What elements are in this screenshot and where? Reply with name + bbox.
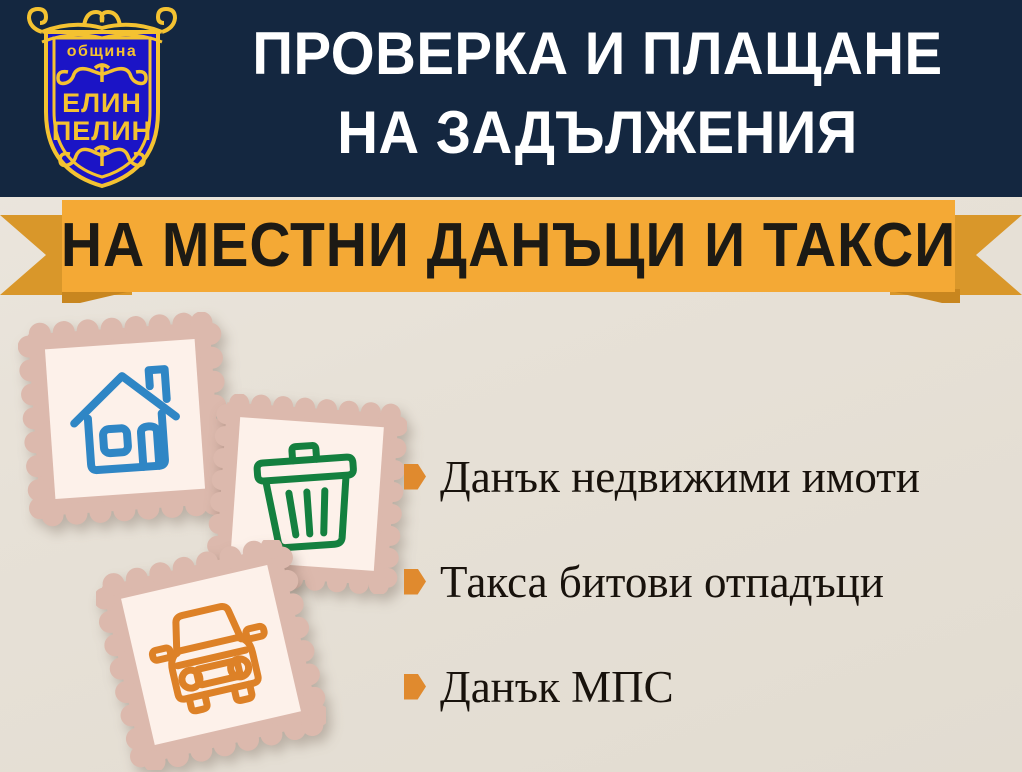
title-line-2: НА ЗАДЪЛЖЕНИЯ (214, 93, 980, 172)
list-item-label: Данък недвижими имоти (440, 453, 920, 501)
page-title: ПРОВЕРКА И ПЛАЩАНЕ НА ЗАДЪЛЖЕНИЯ (190, 14, 1005, 172)
poster-root: община ЕЛИН ПЕЛИН ПРОВЕРКА И ПЛАЩАНЕ НА … (0, 0, 1022, 772)
svg-text:ЕЛИН: ЕЛИН (62, 88, 142, 118)
list-item-label: Данък МПС (440, 663, 674, 711)
header-bar: община ЕЛИН ПЕЛИН ПРОВЕРКА И ПЛАЩАНЕ НА … (0, 0, 1022, 197)
ribbon-text: НА МЕСТНИ ДАНЪЦИ И ТАКСИ (61, 215, 956, 277)
arrow-bullet-icon (404, 674, 426, 700)
ribbon-banner: НА МЕСТНИ ДАНЪЦИ И ТАКСИ (62, 200, 955, 292)
subtitle-ribbon: НА МЕСТНИ ДАНЪЦИ И ТАКСИ (0, 197, 1022, 302)
svg-text:ПЕЛИН: ПЕЛИН (52, 116, 152, 146)
list-item-label: Такса битови отпадъци (440, 558, 884, 606)
stamp-card-car (96, 540, 326, 772)
list-item: Данък МПС (404, 634, 1004, 739)
arrow-bullet-icon (404, 464, 426, 490)
list-item: Данък недвижими имоти (404, 424, 1004, 529)
svg-text:община: община (67, 43, 138, 60)
arrow-bullet-icon (404, 569, 426, 595)
stamp-card-house (18, 312, 233, 532)
title-line-1: ПРОВЕРКА И ПЛАЩАНЕ (214, 14, 980, 93)
municipality-logo: община ЕЛИН ПЕЛИН (24, 4, 180, 192)
list-item: Такса битови отпадъци (404, 529, 1004, 634)
tax-type-list: Данък недвижими имоти Такса битови отпад… (404, 424, 1004, 739)
